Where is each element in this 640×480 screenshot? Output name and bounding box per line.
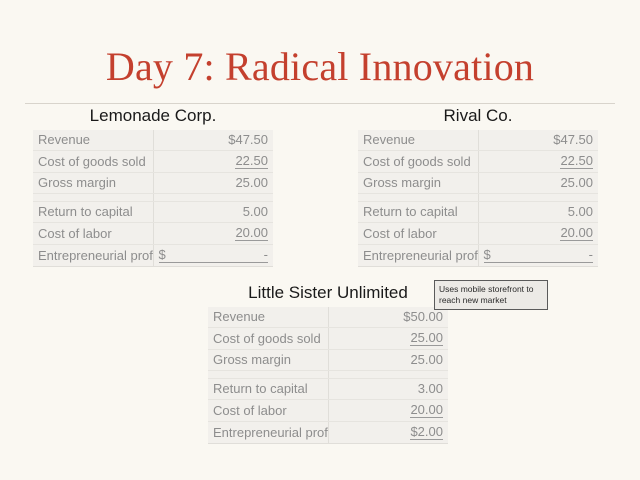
table-section-spacer	[358, 194, 598, 202]
table-row: Gross margin 25.00	[208, 350, 448, 371]
table-row: Gross margin 25.00	[33, 173, 273, 194]
table-row: Revenue $47.50	[33, 130, 273, 151]
financial-table-little-sister: Revenue $50.00 Cost of goods sold 25.00 …	[208, 307, 448, 444]
row-label: Revenue	[208, 307, 328, 328]
table-row: Return to capital 5.00	[358, 202, 598, 223]
row-label: Return to capital	[208, 379, 328, 400]
row-value: 5.00	[478, 202, 598, 223]
spacer-cell	[153, 194, 273, 202]
table-row: Entrepreneurial profit $ -	[358, 245, 598, 267]
row-label: Gross margin	[358, 173, 478, 194]
spacer-cell	[358, 194, 478, 202]
title-divider	[25, 103, 615, 104]
table-row: Revenue $50.00	[208, 307, 448, 328]
row-label: Entrepreneurial profit	[208, 422, 328, 444]
row-label: Cost of goods sold	[358, 151, 478, 173]
table-row: Return to capital 3.00	[208, 379, 448, 400]
table-row: Cost of labor 20.00	[33, 223, 273, 245]
table-row: Cost of labor 20.00	[208, 400, 448, 422]
row-label: Entrepreneurial profit	[358, 245, 478, 267]
table-row: Cost of goods sold 25.00	[208, 328, 448, 350]
row-value: $50.00	[328, 307, 448, 328]
page-title: Day 7: Radical Innovation	[0, 44, 640, 90]
row-value: 25.00	[328, 350, 448, 371]
table-section-spacer	[33, 194, 273, 202]
spacer-cell	[208, 371, 328, 379]
table-row: Gross margin 25.00	[358, 173, 598, 194]
row-value: 22.50	[478, 151, 598, 173]
row-value: 25.00	[478, 173, 598, 194]
spacer-cell	[478, 194, 598, 202]
zero-dash: -	[264, 247, 268, 262]
row-value-total: $2.00	[328, 422, 448, 444]
row-value-total: $ -	[478, 245, 598, 267]
row-value: 5.00	[153, 202, 273, 223]
table-row: Cost of labor 20.00	[358, 223, 598, 245]
callout-note: Uses mobile storefront to reach new mark…	[434, 280, 548, 310]
table-row: Entrepreneurial profit $2.00	[208, 422, 448, 444]
currency-symbol: $	[159, 247, 166, 262]
table-block-lemonade: Lemonade Corp. Revenue $47.50 Cost of go…	[33, 106, 273, 267]
table-caption-rival: Rival Co.	[358, 106, 598, 126]
row-label: Cost of labor	[358, 223, 478, 245]
financial-table-lemonade: Revenue $47.50 Cost of goods sold 22.50 …	[33, 130, 273, 267]
row-label: Cost of goods sold	[208, 328, 328, 350]
row-label: Return to capital	[358, 202, 478, 223]
row-value: 3.00	[328, 379, 448, 400]
row-label: Cost of labor	[33, 223, 153, 245]
row-label: Gross margin	[33, 173, 153, 194]
spacer-cell	[328, 371, 448, 379]
row-label: Revenue	[358, 130, 478, 151]
spacer-cell	[33, 194, 153, 202]
financial-table-rival: Revenue $47.50 Cost of goods sold 22.50 …	[358, 130, 598, 267]
row-value: 25.00	[153, 173, 273, 194]
row-value-total: $ -	[153, 245, 273, 267]
row-value: $47.50	[153, 130, 273, 151]
table-block-little-sister: Little Sister Unlimited Revenue $50.00 C…	[208, 283, 448, 444]
row-label: Entrepreneurial profit	[33, 245, 153, 267]
zero-dash: -	[589, 247, 593, 262]
row-value: 22.50	[153, 151, 273, 173]
row-label: Revenue	[33, 130, 153, 151]
table-caption-lemonade: Lemonade Corp.	[33, 106, 273, 126]
table-row: Cost of goods sold 22.50	[358, 151, 598, 173]
row-label: Gross margin	[208, 350, 328, 371]
currency-symbol: $	[484, 247, 491, 262]
table-row: Cost of goods sold 22.50	[33, 151, 273, 173]
row-label: Cost of goods sold	[33, 151, 153, 173]
row-value: 25.00	[328, 328, 448, 350]
table-row: Revenue $47.50	[358, 130, 598, 151]
row-value: 20.00	[153, 223, 273, 245]
row-label: Cost of labor	[208, 400, 328, 422]
table-section-spacer	[208, 371, 448, 379]
table-block-rival: Rival Co. Revenue $47.50 Cost of goods s…	[358, 106, 598, 267]
table-row: Return to capital 5.00	[33, 202, 273, 223]
table-caption-little-sister: Little Sister Unlimited	[208, 283, 448, 303]
row-value: 20.00	[328, 400, 448, 422]
row-label: Return to capital	[33, 202, 153, 223]
table-row: Entrepreneurial profit $ -	[33, 245, 273, 267]
row-value: 20.00	[478, 223, 598, 245]
row-value: $47.50	[478, 130, 598, 151]
